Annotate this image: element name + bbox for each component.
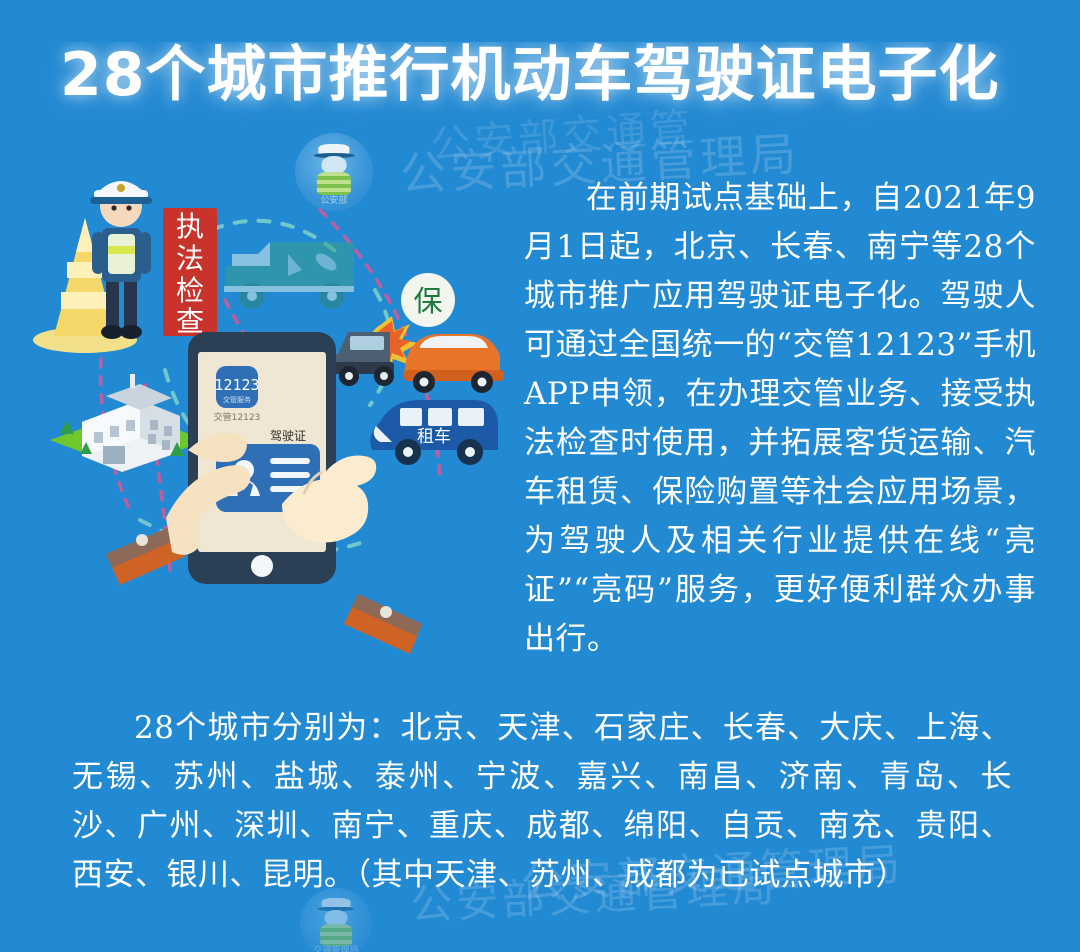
phone-home-button <box>251 555 273 577</box>
app-icon-sub: 交管服务 <box>223 395 251 404</box>
enforcement-label-char1: 执 <box>176 210 204 243</box>
app-icon-number: 12123 <box>214 376 259 394</box>
enforcement-label-char4: 查 <box>176 305 204 338</box>
insurance-label: 保 <box>413 284 442 318</box>
page-title-band: 28个城市推行机动车驾驶证电子化 <box>0 42 1080 122</box>
app-name-label: 交管12123 <box>214 411 261 423</box>
infographic-page: 公安部交通管 公安部交通管理局 公安部交通管理局 公安部交通管理局 28个城市推… <box>0 0 1080 952</box>
page-title: 28个城市推行机动车驾驶证电子化 <box>60 42 1000 113</box>
cargo-truck-icon <box>224 242 354 309</box>
government-building-icon <box>50 374 206 472</box>
rental-van-icon: 租车 <box>370 400 498 465</box>
insurance-scene: 保 <box>332 273 504 393</box>
mascot-body-icon <box>320 924 352 946</box>
hero-illustration: 执 法 检 查 保 <box>20 150 530 660</box>
phone-in-hands: 12123 交管服务 交管12123 驾驶证 <box>106 332 422 654</box>
license-card-label: 驾驶证 <box>270 428 306 443</box>
enforcement-banner: 执 法 检 查 <box>163 208 217 338</box>
main-paragraph-1: 在前期试点基础上，自2021年9月1日起，北京、长春、南宁等28个城市推广应用驾… <box>524 174 1036 664</box>
enforcement-label-char2: 法 <box>176 242 204 275</box>
main-paragraph-2-cities: 28个城市分别为：北京、天津、石家庄、长春、大庆、上海、无锡、苏州、盐城、泰州、… <box>72 704 1012 900</box>
gray-car-icon <box>332 332 394 386</box>
mascot-label: 交通管理局 <box>300 946 372 952</box>
enforcement-label-char3: 检 <box>176 274 204 307</box>
orange-car-icon <box>404 334 504 393</box>
rental-label: 租车 <box>417 427 451 447</box>
